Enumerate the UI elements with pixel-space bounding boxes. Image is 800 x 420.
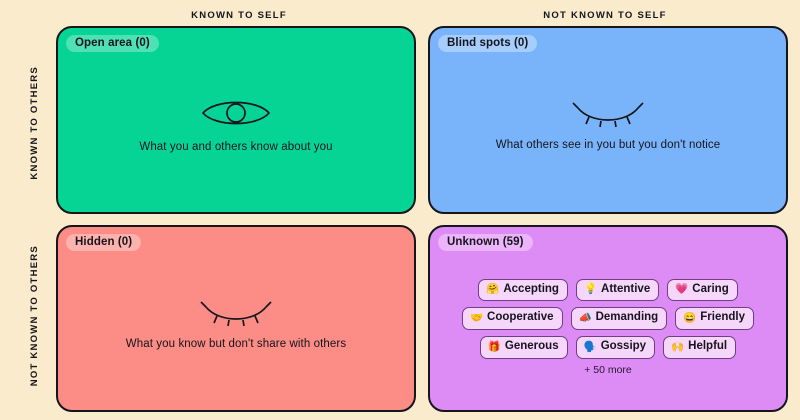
trait-chip-label: Accepting xyxy=(503,282,559,298)
growing-heart-emoji: 💗 xyxy=(675,284,688,295)
speaking-head-emoji: 🗣️ xyxy=(584,342,597,353)
trait-chip-label: Demanding xyxy=(596,310,659,326)
row-header-not-known-to-others-label: NOT KNOWN TO OTHERS xyxy=(29,245,40,386)
trait-chip-label: Caring xyxy=(692,282,728,298)
trait-chip[interactable]: 😄Friendly xyxy=(675,307,754,330)
trait-chip-label: Helpful xyxy=(688,339,727,355)
window-body: KNOWN TO OTHERS NOT KNOWN TO OTHERS Open… xyxy=(12,26,788,412)
johari-window: KNOWN TO SELF NOT KNOWN TO SELF KNOWN TO… xyxy=(0,0,800,420)
trait-chip[interactable]: 🙌Helpful xyxy=(663,336,736,359)
closed-eye-icon xyxy=(199,297,273,332)
trait-chip-label: Gossipy xyxy=(601,339,646,355)
unknown-more-label[interactable]: + 50 more xyxy=(430,364,786,376)
column-header-known-to-self: KNOWN TO SELF xyxy=(56,4,422,26)
raising-hands-emoji: 🙌 xyxy=(671,342,684,353)
trait-chip-label: Generous xyxy=(505,339,559,355)
column-header-not-known-to-self: NOT KNOWN TO SELF xyxy=(422,4,788,26)
megaphone-emoji: 📣 xyxy=(579,313,592,324)
blind-spots-description: What others see in you but you don't not… xyxy=(496,139,721,151)
column-headers: KNOWN TO SELF NOT KNOWN TO SELF xyxy=(12,4,788,26)
hidden-title-pill: Hidden (0) xyxy=(66,234,141,251)
trait-chip[interactable]: 🤗Accepting xyxy=(478,279,568,302)
unknown-title-pill: Unknown (59) xyxy=(438,234,533,251)
open-area-content: What you and others know about you xyxy=(58,96,414,153)
hidden-content: What you know but don't share with other… xyxy=(58,297,414,350)
trait-chip[interactable]: 🤝Cooperative xyxy=(462,307,563,330)
open-area-description: What you and others know about you xyxy=(139,141,332,153)
row-headers: KNOWN TO OTHERS NOT KNOWN TO OTHERS xyxy=(12,26,56,412)
blind-spots-content: What others see in you but you don't not… xyxy=(430,98,786,151)
quadrant-hidden[interactable]: Hidden (0) What you know but xyxy=(56,225,416,413)
trait-chip-label: Friendly xyxy=(700,310,745,326)
trait-chip[interactable]: 💡Attentive xyxy=(576,279,659,302)
handshake-emoji: 🤝 xyxy=(470,313,483,324)
hugging-face-emoji: 🤗 xyxy=(486,284,499,295)
quadrant-open-area[interactable]: Open area (0) What you and others know a… xyxy=(56,26,416,214)
trait-chip[interactable]: 💗Caring xyxy=(667,279,738,302)
trait-chip-label: Cooperative xyxy=(487,310,553,326)
gift-emoji: 🎁 xyxy=(488,342,501,353)
trait-chip[interactable]: 🎁Generous xyxy=(480,336,568,359)
open-area-title-pill: Open area (0) xyxy=(66,35,159,52)
row-header-known-to-others-label: KNOWN TO OTHERS xyxy=(29,66,40,180)
row-header-not-known-to-others: NOT KNOWN TO OTHERS xyxy=(12,219,56,412)
trait-chip-label: Attentive xyxy=(601,282,650,298)
hidden-description: What you know but don't share with other… xyxy=(126,338,346,350)
quadrant-blind-spots[interactable]: Blind spots (0) What others xyxy=(428,26,788,214)
quadrant-grid: Open area (0) What you and others know a… xyxy=(56,26,788,412)
trait-chip-list: 🤗Accepting💡Attentive💗Caring🤝Cooperative📣… xyxy=(444,279,772,359)
row-header-known-to-others: KNOWN TO OTHERS xyxy=(12,26,56,219)
closed-eye-icon xyxy=(571,98,645,133)
grinning-face-emoji: 😄 xyxy=(683,313,696,324)
quadrant-unknown[interactable]: Unknown (59) 🤗Accepting💡Attentive💗Caring… xyxy=(428,225,788,413)
light-bulb-emoji: 💡 xyxy=(584,284,597,295)
trait-chip[interactable]: 🗣️Gossipy xyxy=(576,336,655,359)
open-eye-icon xyxy=(199,96,273,135)
blind-spots-title-pill: Blind spots (0) xyxy=(438,35,537,52)
trait-chip[interactable]: 📣Demanding xyxy=(571,307,668,330)
